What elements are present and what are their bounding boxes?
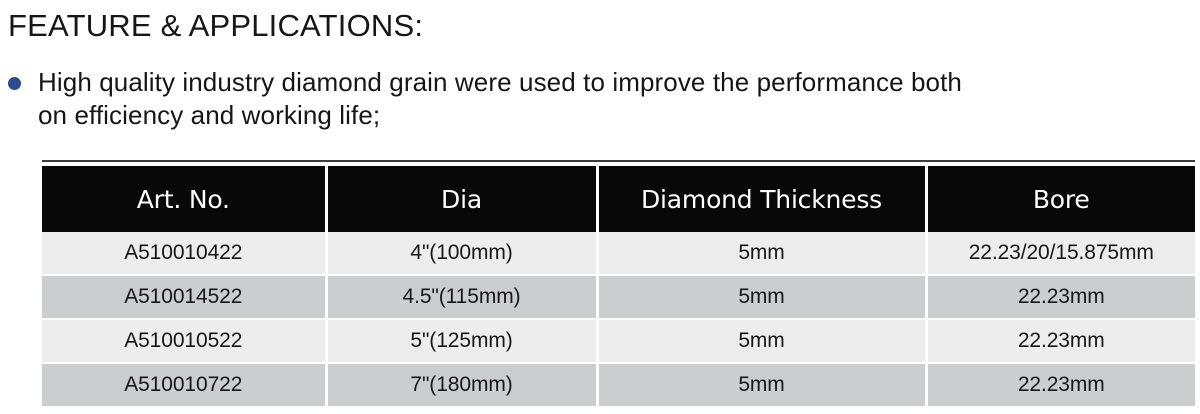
cell-bore: 22.23mm	[926, 275, 1195, 319]
cell-dia: 5"(125mm)	[326, 319, 597, 363]
column-header-diamond-thickness: Diamond Thickness	[597, 166, 926, 232]
product-spec-page: FEATURE & APPLICATIONS: High quality ind…	[0, 0, 1200, 414]
table-row: A510010522 5"(125mm) 5mm 22.23mm	[42, 319, 1195, 363]
cell-bore: 22.23mm	[926, 319, 1195, 363]
cell-dia: 4.5"(115mm)	[326, 275, 597, 319]
cell-art-no: A510014522	[42, 275, 326, 319]
cell-dia: 7"(180mm)	[326, 363, 597, 406]
feature-bullet-item: High quality industry diamond grain were…	[8, 66, 1008, 132]
cell-diamond-thickness: 5mm	[597, 232, 926, 275]
cell-art-no: A510010722	[42, 363, 326, 406]
cell-diamond-thickness: 5mm	[597, 275, 926, 319]
feature-bullet-text: High quality industry diamond grain were…	[38, 66, 968, 132]
table-top-rule	[42, 160, 1195, 162]
table-row: A510010422 4"(100mm) 5mm 22.23/20/15.875…	[42, 232, 1195, 275]
cell-art-no: A510010522	[42, 319, 326, 363]
bullet-dot-icon	[8, 77, 21, 90]
specification-table: Art. No. Dia Diamond Thickness Bore A510…	[42, 166, 1195, 406]
table-row: A510014522 4.5"(115mm) 5mm 22.23mm	[42, 275, 1195, 319]
table-row: A510010722 7"(180mm) 5mm 22.23mm	[42, 363, 1195, 406]
table-header-row: Art. No. Dia Diamond Thickness Bore	[42, 166, 1195, 232]
page-title: FEATURE & APPLICATIONS:	[8, 8, 423, 44]
cell-diamond-thickness: 5mm	[597, 319, 926, 363]
cell-dia: 4"(100mm)	[326, 232, 597, 275]
column-header-dia: Dia	[326, 166, 597, 232]
column-header-art-no: Art. No.	[42, 166, 326, 232]
cell-art-no: A510010422	[42, 232, 326, 275]
column-header-bore: Bore	[926, 166, 1195, 232]
cell-bore: 22.23mm	[926, 363, 1195, 406]
cell-diamond-thickness: 5mm	[597, 363, 926, 406]
cell-bore: 22.23/20/15.875mm	[926, 232, 1195, 275]
